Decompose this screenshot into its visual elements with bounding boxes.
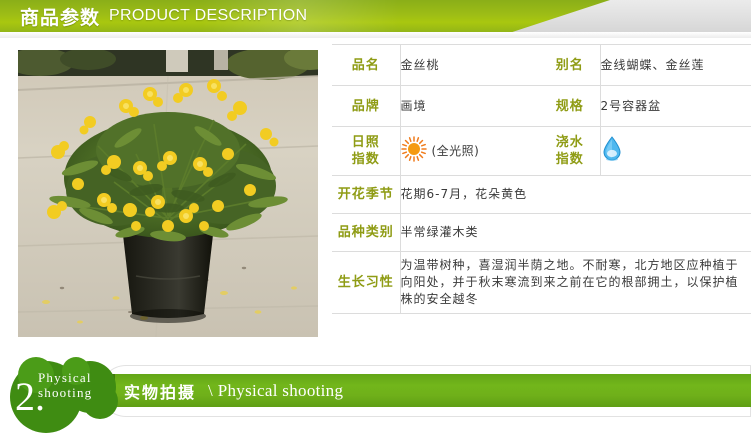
banner-bar-label-group: 实物拍摄 \ Physical shooting — [124, 374, 343, 407]
spec-label-rizhao-line2: 指数 — [332, 151, 400, 168]
header-underline — [0, 32, 751, 38]
plant-photo-illustration — [18, 50, 318, 337]
spec-label-jiaoshui-zhishu: 浇水 指数 — [540, 127, 600, 176]
sun-icon — [401, 136, 427, 167]
spec-value-pinpai: 画境 — [400, 86, 540, 127]
spec-value-guige: 2号容器盆 — [600, 86, 751, 127]
product-photo — [18, 50, 318, 337]
spec-value-jiaoshui — [600, 127, 751, 176]
spec-value-shengzhang-xixing: 为温带树种，喜湿润半荫之地。不耐寒，北方地区应种植于向阳处，并于秋末寒流到来之前… — [400, 252, 751, 314]
table-row: 品种类别 半常绿灌木类 — [332, 214, 751, 252]
spec-label-jiaoshui-line1: 浇水 — [540, 134, 600, 151]
spec-label-rizhao-line1: 日照 — [332, 134, 400, 151]
spec-value-bieming: 金线蝴蝶、金丝莲 — [600, 45, 751, 86]
spec-value-rizhao: (全光照) — [400, 127, 540, 176]
spec-label-pinpai: 品牌 — [332, 86, 400, 127]
spec-label-shengzhang-xixing: 生长习性 — [332, 252, 400, 314]
table-row: 生长习性 为温带树种，喜湿润半荫之地。不耐寒，北方地区应种植于向阳处，并于秋末寒… — [332, 252, 751, 314]
spec-label-kaihua-jijie: 开花季节 — [332, 176, 400, 214]
table-row: 品名 金丝桃 别名 金线蝴蝶、金丝莲 — [332, 45, 751, 86]
banner-separator: \ — [208, 381, 213, 401]
table-row: 日照 指数 — [332, 127, 751, 176]
table-row: 品牌 画境 规格 2号容器盆 — [332, 86, 751, 127]
banner-title-en: Physical shooting — [218, 381, 344, 401]
spec-label-guige: 规格 — [540, 86, 600, 127]
product-spec-table: 品名 金丝桃 别名 金线蝴蝶、金丝莲 品牌 画境 规格 2号容器盆 日照 指数 — [332, 44, 751, 314]
table-row: 开花季节 花期6-7月，花朵黄色 — [332, 176, 751, 214]
spec-value-pinzhong-leibie: 半常绿灌木类 — [400, 214, 751, 252]
spec-label-pinming: 品名 — [332, 45, 400, 86]
section-banner-physical-shooting: 实物拍摄 \ Physical shooting 2. Physical sho… — [0, 357, 751, 433]
badge-shape — [6, 357, 136, 433]
page-title-cn: 商品参数 — [20, 3, 100, 30]
section-number-badge: 2. Physical shooting — [6, 357, 136, 433]
header-title-group: 商品参数 PRODUCT DESCRIPTION — [20, 0, 307, 32]
spec-label-bieming: 别名 — [540, 45, 600, 86]
spec-label-jiaoshui-line2: 指数 — [540, 151, 600, 168]
sun-index-group: (全光照) — [401, 136, 541, 167]
page-title-en: PRODUCT DESCRIPTION — [109, 7, 307, 25]
spec-value-pinming: 金丝桃 — [400, 45, 540, 86]
spec-label-rizhao-zhishu: 日照 指数 — [332, 127, 400, 176]
spec-value-kaihua-jijie: 花期6-7月，花朵黄色 — [400, 176, 751, 214]
sun-index-note: (全光照) — [432, 143, 480, 160]
water-drop-icon — [601, 151, 623, 165]
page-header: 商品参数 PRODUCT DESCRIPTION — [0, 0, 751, 38]
spec-label-pinzhong-leibie: 品种类别 — [332, 214, 400, 252]
